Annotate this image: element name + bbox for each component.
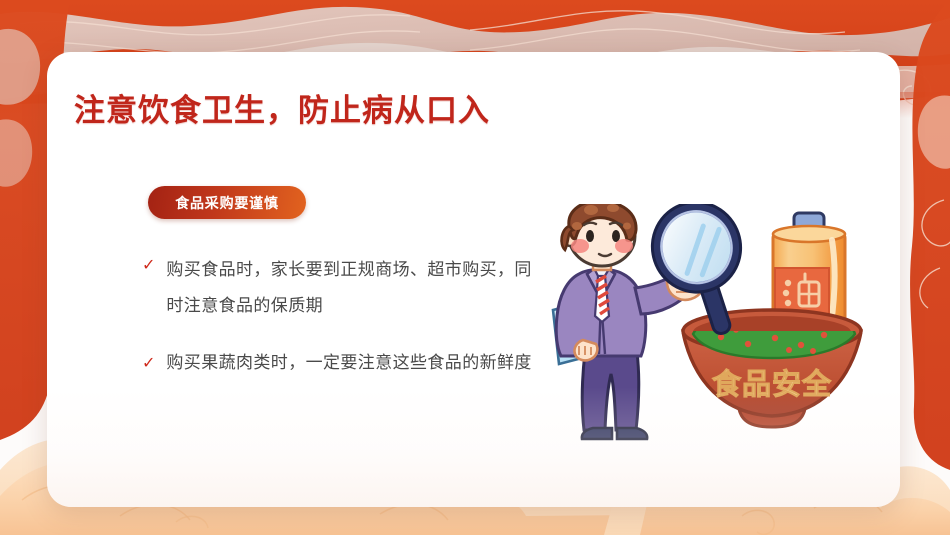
page-title: 注意饮食卫生，防止病从口入 (74, 85, 490, 130)
bg-right-edge (910, 0, 950, 470)
list-item-text: 购买果蔬肉类时，一定要注意这些食品的新鲜度 (166, 350, 531, 376)
list-item-text: 购买食品时，家长要到正规商场、超市购买，同时注意食品的保质期 (166, 252, 532, 324)
bullet-list: ✓ 购买食品时，家长要到正规商场、超市购买，同时注意食品的保质期 ✓ 购买果蔬肉… (142, 252, 532, 376)
badge-label: 食品采购要谨慎 (175, 193, 279, 213)
food-bowl: 食品安全 (683, 310, 861, 427)
status-badge: 食品采购要谨慎 (148, 186, 306, 219)
slide-root: 注意饮食卫生，防止病从口入 食品采购要谨慎 ✓ 购买食品时，家长要到正规商场、超… (0, 0, 950, 535)
content-card: 注意饮食卫生，防止病从口入 食品采购要谨慎 ✓ 购买食品时，家长要到正规商场、超… (47, 52, 900, 507)
list-item: ✓ 购买果蔬肉类时，一定要注意这些食品的新鲜度 (142, 350, 532, 376)
list-item: ✓ 购买食品时，家长要到正规商场、超市购买，同时注意食品的保质期 (142, 252, 532, 324)
check-icon: ✓ (142, 356, 155, 372)
bowl-label: 食品安全 (712, 367, 832, 401)
food-safety-illustration: 食品安全 (543, 204, 873, 452)
check-icon: ✓ (142, 258, 155, 274)
